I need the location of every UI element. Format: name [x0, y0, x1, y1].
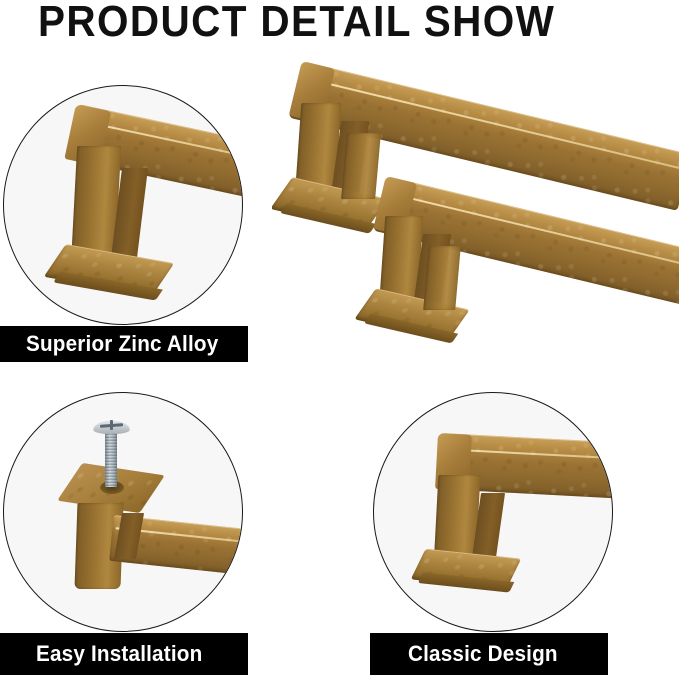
- caption-label-superior-zinc-alloy: Superior Zinc Alloy: [26, 331, 218, 357]
- caption-bar-superior-zinc-alloy: Superior Zinc Alloy: [0, 326, 248, 362]
- caption-label-classic-design: Classic Design: [408, 641, 558, 667]
- page-title: PRODUCT DETAIL SHOW: [38, 0, 590, 46]
- product-hero-photo: [272, 55, 679, 385]
- screw-shaft: [105, 429, 117, 487]
- inset-superior-zinc-alloy: [3, 85, 243, 325]
- inset-easy-installation: [3, 392, 243, 632]
- caption-label-easy-installation: Easy Installation: [36, 641, 202, 667]
- inset-classic-design: [373, 392, 613, 632]
- handle-leg-right: [423, 246, 461, 310]
- caption-bar-easy-installation: Easy Installation: [0, 633, 248, 675]
- caption-bar-classic-design: Classic Design: [370, 633, 608, 675]
- hero-handle-lower: [360, 170, 679, 370]
- product-detail-page: PRODUCT DETAIL SHOW: [0, 0, 679, 675]
